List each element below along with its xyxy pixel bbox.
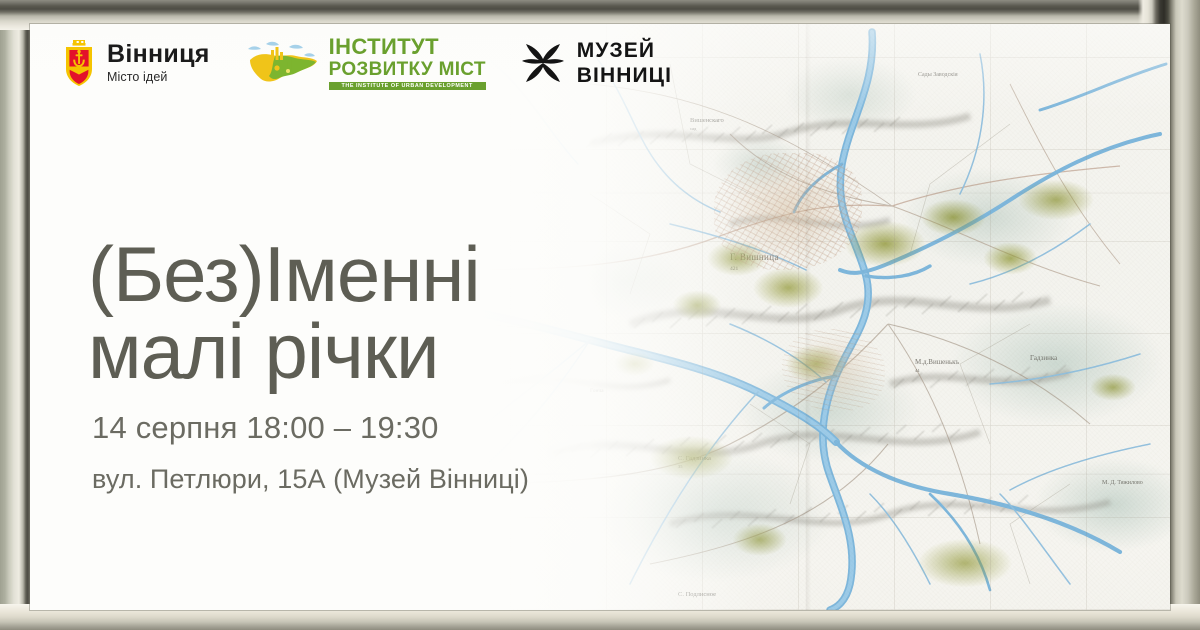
museum-wordmark: МУЗЕЙ ВІННИЦІ xyxy=(577,40,672,86)
institute-line3-en: THE INSTITUTE OF URBAN DEVELOPMENT xyxy=(329,82,486,90)
event-address: вул. Петлюри, 15А (Музей Вінниці) xyxy=(92,464,712,495)
title-line-2: малі річки xyxy=(88,313,648,389)
vinnytsia-name: Вінниця xyxy=(107,42,210,67)
museum-star-icon xyxy=(520,40,566,86)
poster: Г. Вишница 421 Вишенскаго сад Сады Завод… xyxy=(0,0,1200,630)
vinnytsia-coat-of-arms-icon xyxy=(62,38,96,88)
logo-row: Вінниця Місто ідей xyxy=(62,36,672,90)
poster-content: Вінниця Місто ідей xyxy=(30,24,1170,610)
poster-canvas: Г. Вишница 421 Вишенскаго сад Сады Завод… xyxy=(30,24,1170,610)
logo-vinnytsia[interactable]: Вінниця Місто ідей xyxy=(62,38,210,88)
museum-line2: ВІННИЦІ xyxy=(577,65,672,86)
vinnytsia-wordmark: Вінниця Місто ідей xyxy=(107,42,210,84)
event-datetime: 14 серпня 18:00 – 19:30 xyxy=(92,410,712,446)
museum-line1: МУЗЕЙ xyxy=(577,40,672,61)
institute-line2: РОЗВИТКУ МІСТ xyxy=(329,60,486,79)
event-details: 14 серпня 18:00 – 19:30 вул. Петлюри, 15… xyxy=(92,410,712,495)
institute-wordmark: ІНСТИТУТ РОЗВИТКУ МІСТ THE INSTITUTE OF … xyxy=(329,36,486,90)
logo-institute[interactable]: ІНСТИТУТ РОЗВИТКУ МІСТ THE INSTITUTE OF … xyxy=(244,36,486,90)
page-title: (Без)Іменні малі річки xyxy=(88,236,648,389)
title-line-1: (Без)Іменні xyxy=(88,236,648,312)
vinnytsia-tagline: Місто ідей xyxy=(107,71,210,84)
ukraine-map-icon xyxy=(244,38,322,88)
institute-line1: ІНСТИТУТ xyxy=(329,36,486,58)
logo-museum[interactable]: МУЗЕЙ ВІННИЦІ xyxy=(520,40,672,86)
